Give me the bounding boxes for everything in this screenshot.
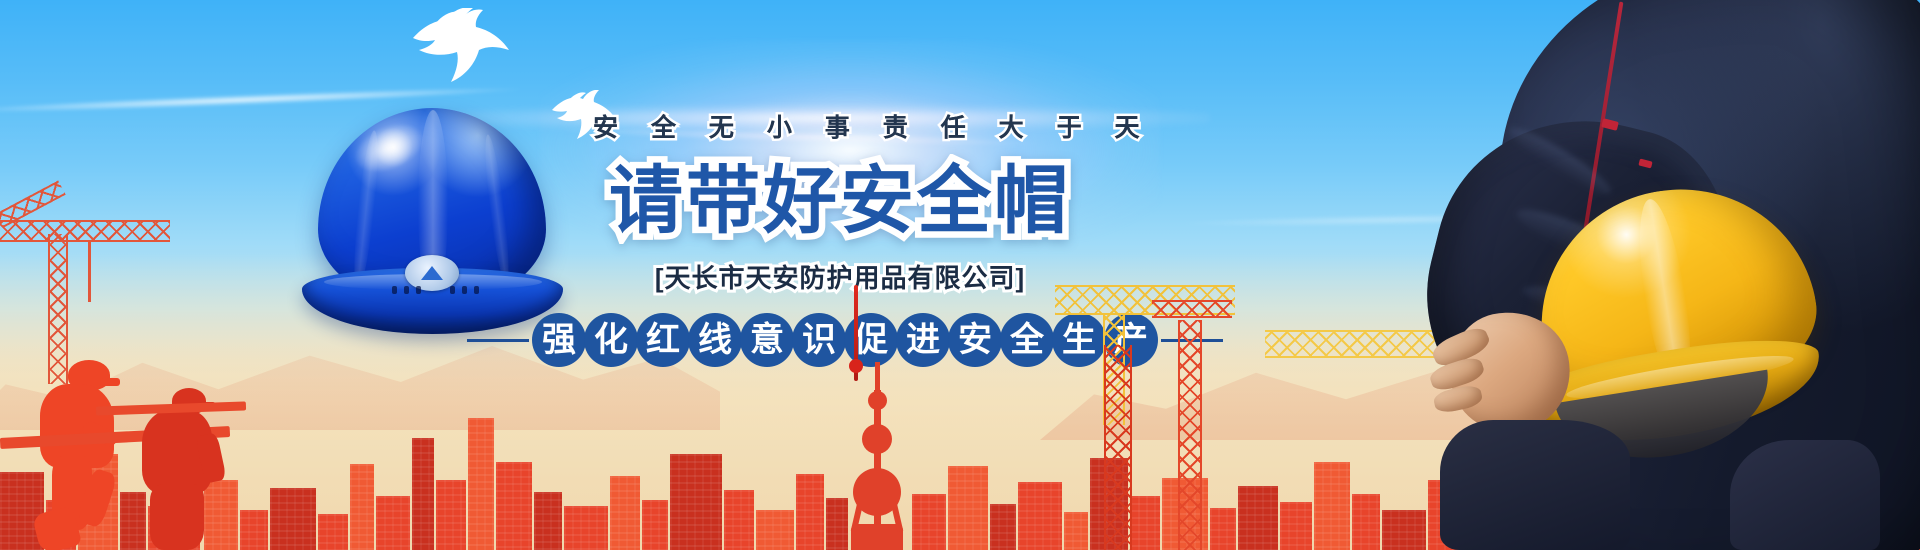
slogan-chip: 全: [1000, 313, 1054, 367]
tower-crane-silhouette: [1090, 345, 1150, 550]
helmet-vent: [450, 286, 455, 294]
helmet-vent: [392, 286, 397, 294]
slogan-rule-left: [467, 339, 529, 342]
safety-banner: 安 全 无 小 事 责 任 大 于 天 安 全 无 小 事 责 任 大 于 天 …: [0, 0, 1920, 550]
company-name-text: [天长市天安防护用品有限公司]: [580, 262, 1100, 296]
helmet-vent: [462, 286, 467, 294]
pearl-tower-silhouette: [845, 362, 909, 550]
dove-large-icon: [405, 8, 515, 93]
tool-belt-silhouette: [1440, 420, 1630, 550]
headline-text: 请带好安全帽: [580, 164, 1100, 238]
helmet-vent: [474, 286, 479, 294]
slogan-chip: 识: [792, 313, 846, 367]
blue-safety-helmet: [300, 100, 565, 340]
company-name: [天长市天安防护用品有限公司] [天长市天安防护用品有限公司]: [580, 262, 1100, 298]
slogan-chip: 红: [636, 313, 690, 367]
boot-silhouette: [1730, 440, 1880, 550]
headline-text-block: 安 全 无 小 事 责 任 大 于 天 安 全 无 小 事 责 任 大 于 天 …: [580, 116, 1100, 298]
slogan-chip: 化: [584, 313, 638, 367]
slogan-left-chips: 强 化 红 线 意 识: [533, 313, 845, 367]
slogan-chip: 线: [688, 313, 742, 367]
headline: 请带好安全帽 请带好安全帽: [580, 164, 1100, 256]
slogan-chip: 意: [740, 313, 794, 367]
slogan-chip: 强: [532, 313, 586, 367]
slogan-chip: 进: [896, 313, 950, 367]
slogan-chip: 安: [948, 313, 1002, 367]
tagline: 安 全 无 小 事 责 任 大 于 天 安 全 无 小 事 责 任 大 于 天: [580, 116, 1100, 150]
helmet-vent: [416, 286, 421, 294]
helmet-vent: [404, 286, 409, 294]
tower-crane-silhouette: [1152, 300, 1232, 550]
tagline-text: 安 全 无 小 事 责 任 大 于 天: [580, 116, 1100, 141]
